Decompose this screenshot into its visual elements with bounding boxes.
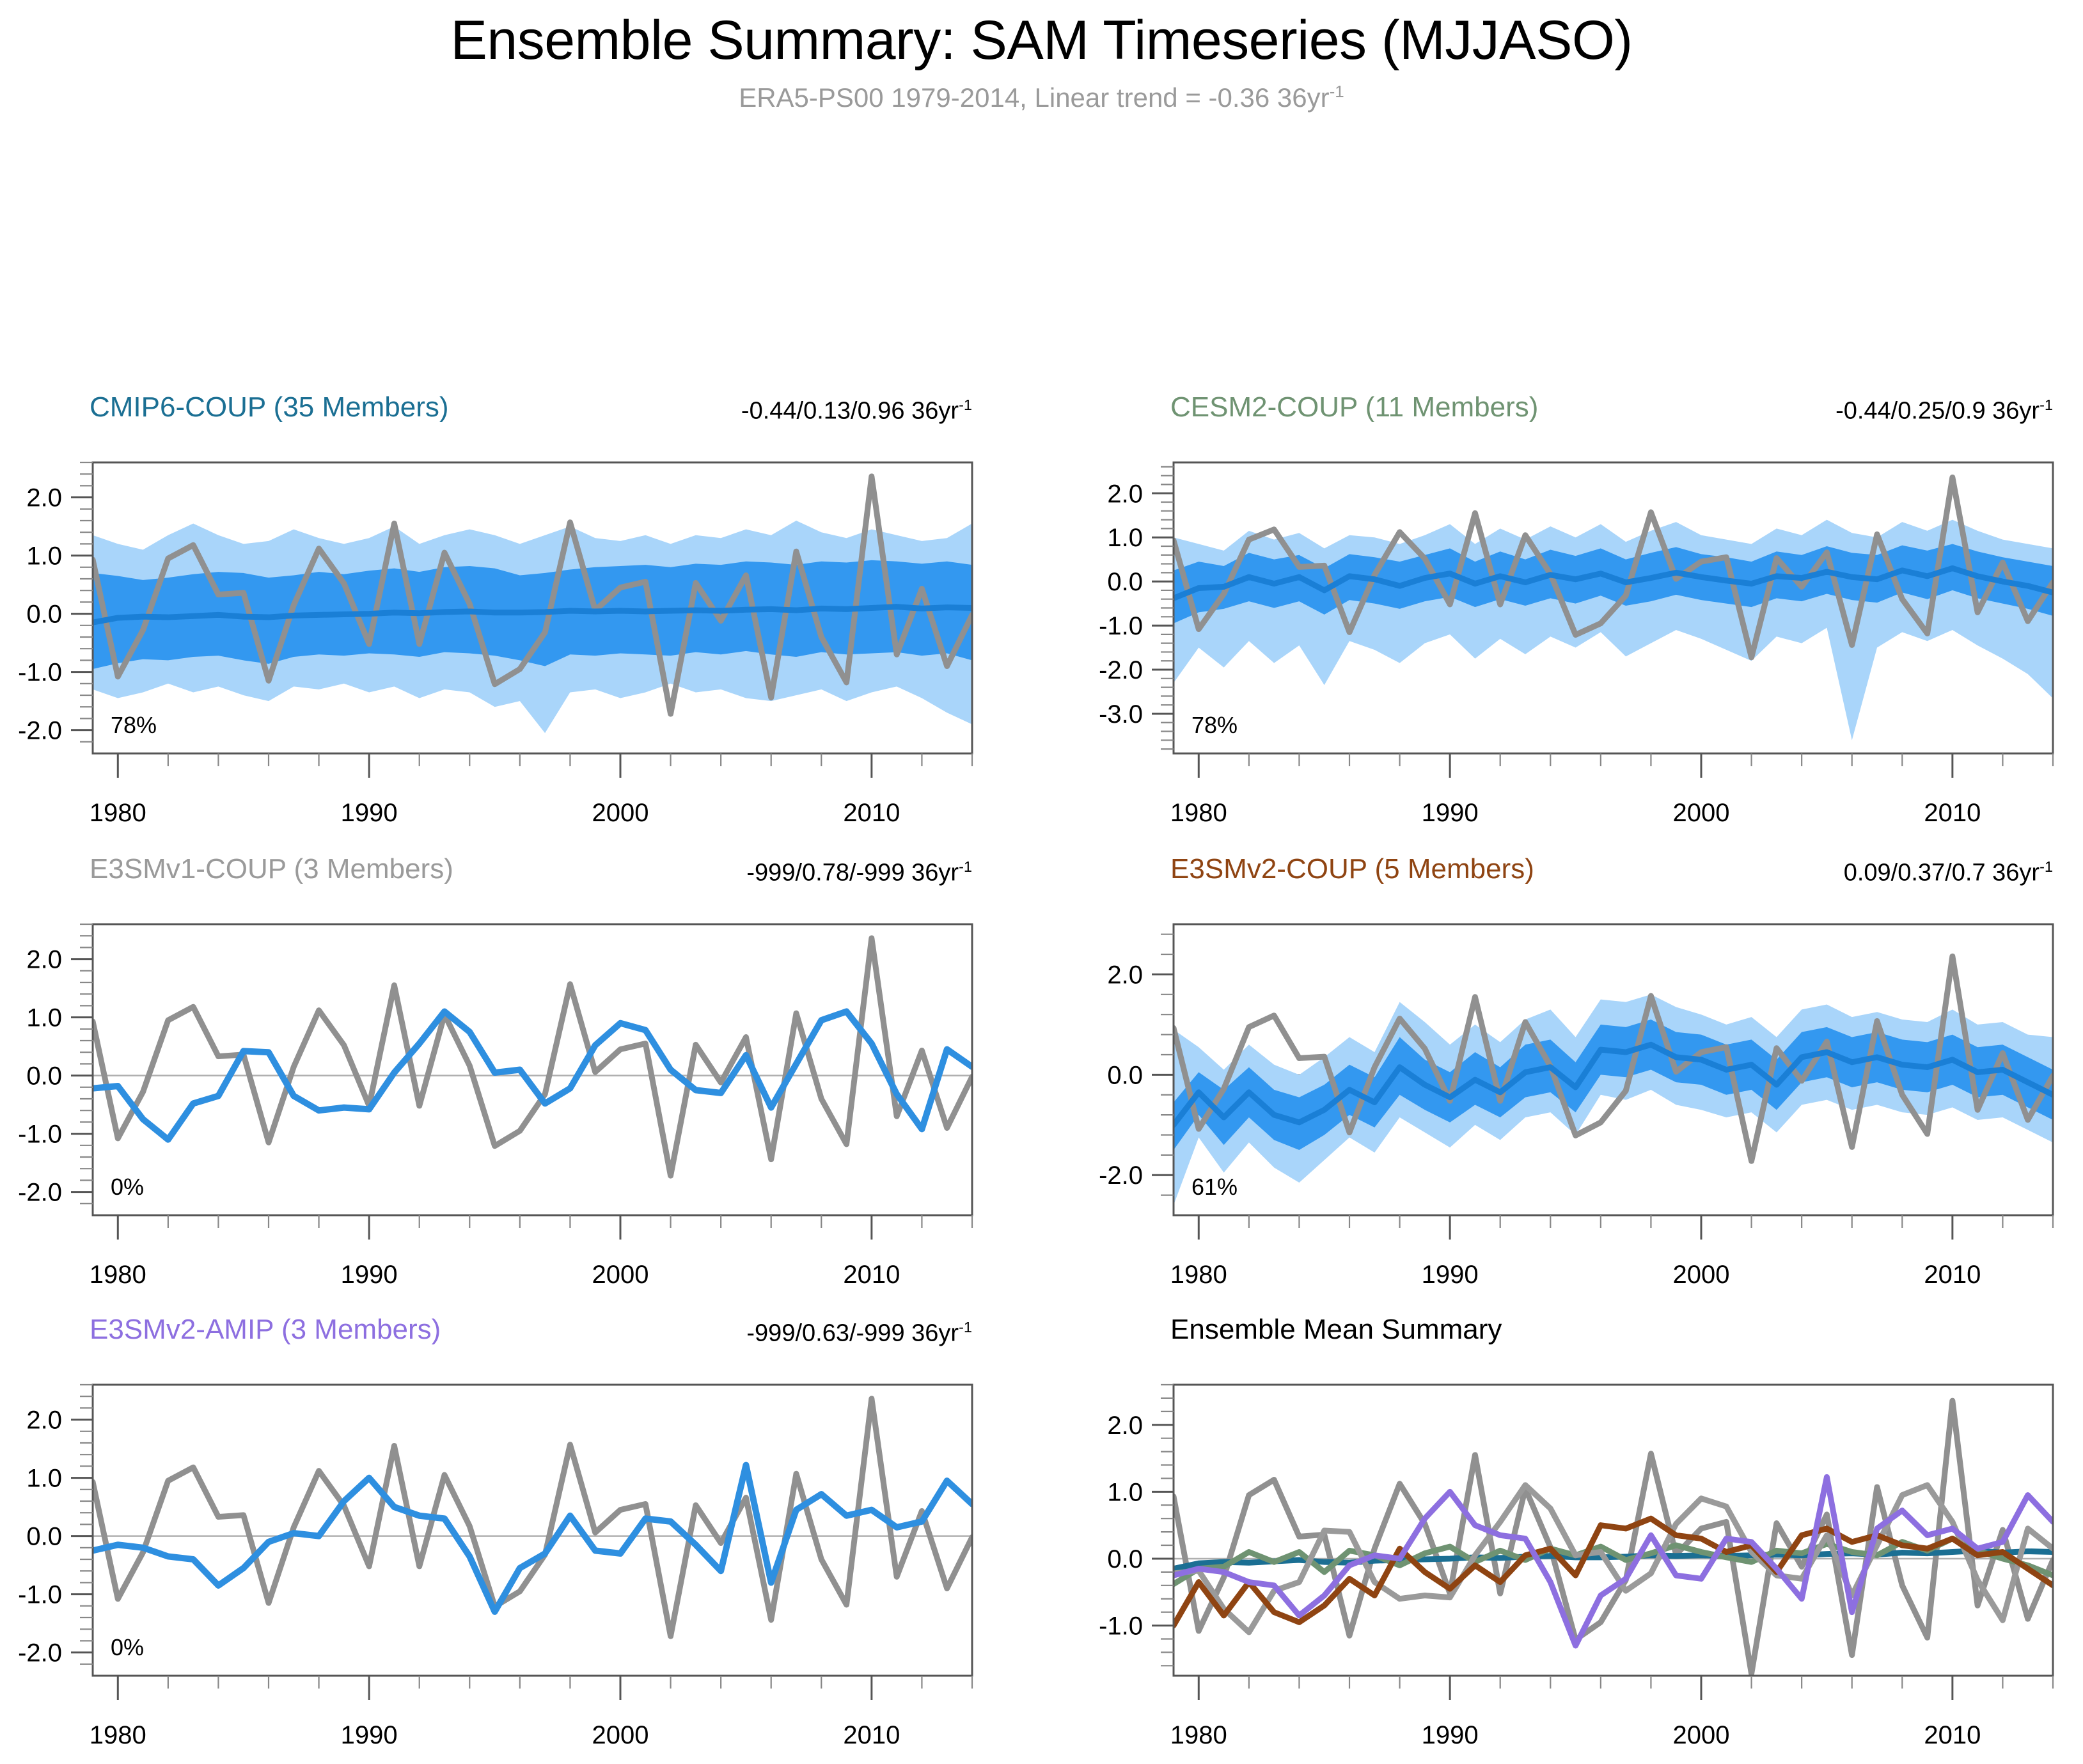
y-tick-label: -1.0 — [1099, 1612, 1143, 1641]
panel-plot-ensemble-mean-summary: 2.01.00.0-1.01980199020002010 — [1081, 1378, 2066, 1759]
x-tick-label: 2010 — [843, 1721, 900, 1749]
observation-line — [93, 938, 972, 1176]
y-tick-label: -2.0 — [1099, 1162, 1143, 1190]
figure-title: Ensemble Summary: SAM Timeseries (MJJASO… — [0, 12, 2083, 69]
panel-plot-e3smv2-coup: 2.00.0-2.0198019902000201061% — [1081, 918, 2066, 1298]
panel-plot-cmip6-coup: 2.01.00.0-1.0-2.0198019902000201078% — [0, 456, 985, 837]
x-tick-label: 1980 — [1170, 1261, 1227, 1289]
panel-trend-stat-e3smv1-coup: -999/0.78/-999 36yr-1 — [397, 858, 972, 887]
y-tick-label: 0.0 — [26, 601, 62, 629]
x-tick-label: 1980 — [90, 1261, 146, 1289]
panel-trend-units-cesm2-coup: 36yr — [1992, 398, 2040, 425]
y-tick-label: 1.0 — [1107, 524, 1143, 552]
y-tick-label: 1.0 — [26, 1004, 62, 1032]
panel-title-ensemble-mean-summary: Ensemble Mean Summary — [1170, 1314, 1502, 1346]
y-tick-label: 2.0 — [26, 1406, 62, 1435]
skill-percent-label-cesm2-coup: 78% — [1191, 712, 1238, 738]
y-tick-label: -2.0 — [1099, 656, 1143, 684]
panel-trend-exponent-e3smv2-amip: -1 — [959, 1319, 972, 1335]
y-tick-label: -1.0 — [18, 1581, 62, 1609]
y-tick-label: 0.0 — [1107, 1545, 1143, 1573]
panel-trend-units-cmip6-coup: 36yr — [911, 398, 959, 425]
y-tick-label: 0.0 — [26, 1523, 62, 1551]
panel-trend-stat-cmip6-coup: -0.44/0.13/0.96 36yr-1 — [397, 397, 972, 425]
panel-title-cmip6-coup: CMIP6-COUP (35 Members) — [90, 391, 449, 423]
x-tick-label: 2010 — [1924, 1721, 1981, 1749]
figure-subtitle-text: ERA5-PS00 1979-2014, Linear trend = -0.3… — [739, 83, 1329, 113]
x-tick-label: 2010 — [1924, 799, 1981, 827]
panel-trend-stat-e3smv2-amip: -999/0.63/-999 36yr-1 — [397, 1319, 972, 1348]
x-tick-label: 2000 — [592, 799, 649, 827]
panel-trend-stat-cesm2-coup: -0.44/0.25/0.9 36yr-1 — [1477, 397, 2053, 425]
panel-plot-cesm2-coup: 2.01.00.0-1.0-2.0-3.0198019902000201078% — [1081, 456, 2066, 837]
y-tick-label: -1.0 — [1099, 612, 1143, 640]
panel-trend-value-cmip6-coup: -0.44/0.13/0.96 — [741, 398, 911, 425]
panel-trend-value-e3smv2-amip: -999/0.63/-999 — [746, 1320, 911, 1347]
panel-trend-units-e3smv2-amip: 36yr — [911, 1320, 959, 1347]
x-tick-label: 1980 — [90, 799, 146, 827]
panel-plot-e3smv1-coup: 2.01.00.0-1.0-2.019801990200020100% — [0, 918, 985, 1298]
x-tick-label: 2000 — [592, 1721, 649, 1749]
x-tick-label: 2000 — [592, 1261, 649, 1289]
y-tick-label: 2.0 — [26, 484, 62, 512]
y-tick-label: -1.0 — [18, 1121, 62, 1149]
x-tick-label: 2000 — [1673, 1721, 1730, 1749]
y-tick-label: 2.0 — [1107, 961, 1143, 989]
observation-line — [93, 1399, 972, 1636]
panel-plot-e3smv2-amip: 2.01.00.0-1.0-2.019801990200020100% — [0, 1378, 985, 1759]
figure-subtitle-exponent: -1 — [1330, 82, 1344, 101]
panel-trend-stat-e3smv2-coup: 0.09/0.37/0.7 36yr-1 — [1477, 858, 2053, 887]
figure-subtitle: ERA5-PS00 1979-2014, Linear trend = -0.3… — [0, 82, 2083, 113]
panel-trend-exponent-cesm2-coup: -1 — [2040, 397, 2053, 413]
x-tick-label: 2010 — [1924, 1261, 1981, 1289]
x-tick-label: 1980 — [1170, 1721, 1227, 1749]
panel-trend-exponent-cmip6-coup: -1 — [959, 397, 972, 413]
y-tick-label: -2.0 — [18, 1179, 62, 1207]
y-tick-label: 0.0 — [26, 1062, 62, 1091]
skill-percent-label-e3smv1-coup: 0% — [111, 1174, 144, 1200]
panel-trend-value-cesm2-coup: -0.44/0.25/0.9 — [1835, 398, 1992, 425]
panel-trend-units-e3smv2-coup: 36yr — [1992, 860, 2040, 886]
panel-title-e3smv2-amip: E3SMv2-AMIP (3 Members) — [90, 1314, 441, 1346]
plot-frame — [93, 924, 972, 1215]
plot-frame — [93, 1385, 972, 1676]
y-tick-label: 1.0 — [26, 542, 62, 571]
x-tick-label: 1990 — [1422, 799, 1479, 827]
y-tick-label: 0.0 — [1107, 568, 1143, 596]
x-tick-label: 2010 — [843, 1261, 900, 1289]
x-tick-label: 2000 — [1673, 1261, 1730, 1289]
x-tick-label: 1990 — [1422, 1721, 1479, 1749]
y-tick-label: -1.0 — [18, 659, 62, 687]
skill-percent-label-cmip6-coup: 78% — [111, 712, 157, 738]
x-tick-label: 1980 — [1170, 799, 1227, 827]
x-tick-label: 2010 — [843, 799, 900, 827]
x-tick-label: 1990 — [341, 799, 398, 827]
x-tick-label: 1990 — [1422, 1261, 1479, 1289]
panel-trend-exponent-e3smv1-coup: -1 — [959, 858, 972, 875]
panel-trend-exponent-e3smv2-coup: -1 — [2040, 858, 2053, 875]
panel-trend-units-e3smv1-coup: 36yr — [911, 860, 959, 886]
skill-percent-label-e3smv2-coup: 61% — [1191, 1174, 1238, 1200]
y-tick-label: -2.0 — [18, 1639, 62, 1667]
x-tick-label: 1990 — [341, 1721, 398, 1749]
figure-root: Ensemble Summary: SAM Timeseries (MJJASO… — [0, 0, 2083, 1764]
x-tick-label: 1980 — [90, 1721, 146, 1749]
y-tick-label: -3.0 — [1099, 700, 1143, 728]
x-tick-label: 1990 — [341, 1261, 398, 1289]
y-tick-label: 0.0 — [1107, 1061, 1143, 1089]
skill-percent-label-e3smv2-amip: 0% — [111, 1634, 144, 1660]
y-tick-label: 2.0 — [1107, 1412, 1143, 1440]
y-tick-label: 1.0 — [26, 1465, 62, 1493]
y-tick-label: 2.0 — [26, 946, 62, 974]
panel-trend-value-e3smv2-coup: 0.09/0.37/0.7 — [1844, 860, 1992, 886]
y-tick-label: -2.0 — [18, 717, 62, 745]
y-tick-label: 1.0 — [1107, 1478, 1143, 1506]
y-tick-label: 2.0 — [1107, 480, 1143, 508]
panel-trend-value-e3smv1-coup: -999/0.78/-999 — [746, 860, 911, 886]
observation-line — [1174, 1401, 2053, 1674]
x-tick-label: 2000 — [1673, 799, 1730, 827]
